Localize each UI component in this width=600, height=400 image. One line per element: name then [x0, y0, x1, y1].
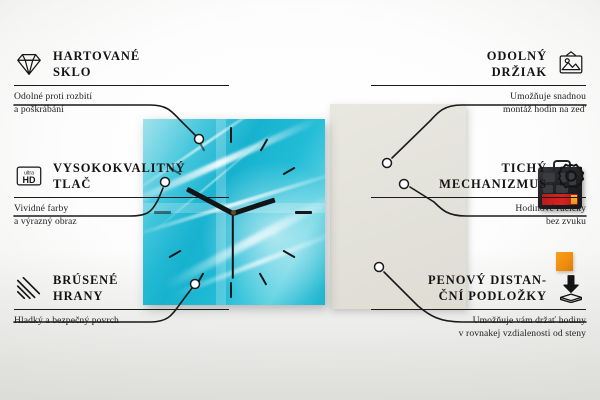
clock-second-hand: [232, 213, 234, 279]
ultra-hd-icon: ultra HD: [14, 161, 44, 191]
arrow-down-to-surface-icon: [556, 273, 586, 303]
feature-divider: [371, 197, 586, 198]
feature-divider: [371, 85, 586, 86]
picture-frame-hanger-icon: [556, 49, 586, 79]
feature-durable-holder[interactable]: ODOLNÝ DRŽIAK Umožňuje snadnou montáž ho…: [371, 48, 586, 117]
feature-title: PENOVÝ DISTAN- ČNÍ PODLOŽKY: [428, 272, 547, 304]
svg-text:HD: HD: [23, 175, 36, 185]
feature-subtitle: Umožňuje vám držať hodiny v rovnakej vzd…: [371, 315, 586, 341]
feature-subtitle: Odolné proti rozbití a poškrábání: [14, 91, 229, 117]
feature-title: HARTOVANÉ SKLO: [53, 48, 140, 80]
feature-foam-spacers[interactable]: PENOVÝ DISTAN- ČNÍ PODLOŽKY Umožňuje vám…: [371, 272, 586, 341]
feature-title: TICHÝ MECHANIZMUS: [439, 160, 547, 192]
feature-header: ultra HD VYSOKOKVALITNÝ TLAČ: [14, 160, 229, 192]
feature-header: ODOLNÝ DRŽIAK: [371, 48, 586, 80]
feature-header: TICHÝ MECHANIZMUS: [371, 160, 586, 192]
foam-spacer-pad: [556, 252, 573, 271]
feature-title: ODOLNÝ DRŽIAK: [487, 48, 547, 80]
feature-divider: [14, 309, 229, 310]
feature-subtitle: Umožňuje snadnou montáž hodin na zeď: [371, 91, 586, 117]
diamond-icon: [14, 49, 44, 79]
feature-subtitle: Hodinové ručičky bez zvuku: [371, 203, 586, 229]
gear-icon: [556, 161, 586, 191]
clock-tick-6: [230, 282, 232, 298]
feature-subtitle: Hladký a bezpečný povrch: [14, 315, 229, 328]
feature-header: HARTOVANÉ SKLO: [14, 48, 229, 80]
feature-title: VYSOKOKVALITNÝ TLAČ: [53, 160, 186, 192]
diagonal-lines-icon: [14, 273, 44, 303]
feature-divider: [14, 85, 229, 86]
feature-silent-mechanism[interactable]: TICHÝ MECHANIZMUS Hodinové ručičky bez z…: [371, 160, 586, 229]
feature-divider: [371, 309, 586, 310]
feature-header: BRÚSENÉ HRANY: [14, 272, 229, 304]
feature-header: PENOVÝ DISTAN- ČNÍ PODLOŽKY: [371, 272, 586, 304]
feature-hardened-glass[interactable]: HARTOVANÉ SKLO Odolné proti rozbití a po…: [14, 48, 229, 117]
feature-high-quality-print[interactable]: ultra HD VYSOKOKVALITNÝ TLAČ Vividné far…: [14, 160, 229, 229]
feature-subtitle: Vividné farby a výrazný obraz: [14, 203, 229, 229]
clock-tick-3: [295, 211, 312, 214]
clock-center-hub: [231, 210, 236, 215]
feature-title: BRÚSENÉ HRANY: [53, 272, 118, 304]
feature-ground-edges[interactable]: BRÚSENÉ HRANY Hladký a bezpečný povrch: [14, 272, 229, 328]
feature-divider: [14, 197, 229, 198]
clock-tick-12: [230, 127, 232, 143]
product-infographic: HARTOVANÉ SKLO Odolné proti rozbití a po…: [0, 0, 600, 400]
